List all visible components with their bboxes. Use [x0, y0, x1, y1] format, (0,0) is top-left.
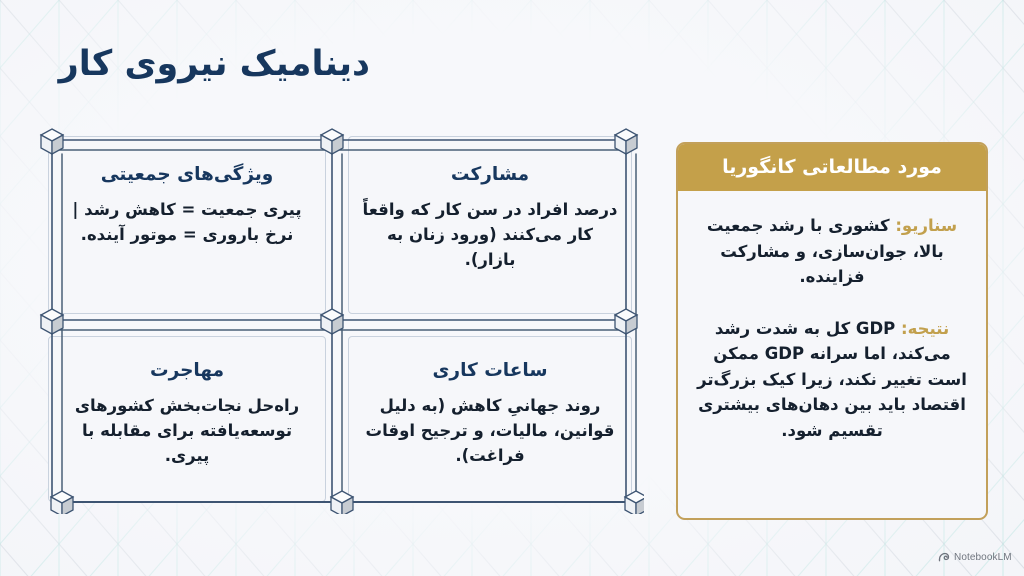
case-study-panel: مورد مطالعاتی کانگوریا سناریو: کشوری با …	[676, 142, 988, 520]
quadrant-body: راه‌حل نجات‌بخش کشورهای توسعه‌یافته برای…	[49, 393, 325, 468]
quadrant-body: روند جهانیِ کاهش (به دلیل قوانین، مالیات…	[349, 393, 631, 468]
quadrant-body: پیری جمعیت = کاهش رشد | نرخ باروری = موت…	[49, 197, 325, 247]
quadrant-working-hours: ساعات کاری روند جهانیِ کاهش (به دلیل قوا…	[348, 336, 632, 502]
quadrant-demographics: ویژگی‌های جمعیتی پیری جمعیت = کاهش رشد |…	[48, 136, 326, 314]
quadrant-body: درصد افراد در سن کار که واقعاً کار می‌کن…	[349, 197, 631, 272]
case-study-result-label: نتیجه:	[901, 319, 949, 338]
page-title: دینامیک نیروی کار	[59, 44, 370, 84]
case-study-scenario-label: سناریو:	[895, 216, 957, 235]
case-study-body: سناریو: کشوری با رشد جمعیت بالا، جوان‌سا…	[678, 191, 986, 458]
quadrant-heading: ویژگی‌های جمعیتی	[101, 163, 274, 186]
case-study-scenario: سناریو: کشوری با رشد جمعیت بالا، جوان‌سا…	[696, 213, 968, 290]
quadrant-heading: ساعات کاری	[432, 359, 547, 382]
case-study-header: مورد مطالعاتی کانگوریا	[678, 144, 986, 191]
case-study-result: نتیجه: GDP کل به شدت رشد می‌کند، اما سرا…	[696, 316, 968, 444]
watermark-label: NotebookLM	[954, 552, 1012, 563]
quadrant-participation: مشارکت درصد افراد در سن کار که واقعاً کا…	[348, 136, 632, 314]
notebooklm-watermark: NotebookLM	[938, 551, 1012, 563]
quadrant-frame: ویژگی‌های جمعیتی پیری جمعیت = کاهش رشد |…	[36, 124, 644, 514]
quadrant-heading: مشارکت	[451, 163, 529, 186]
quadrant-heading: مهاجرت	[150, 359, 224, 382]
notebooklm-icon	[938, 551, 950, 563]
quadrant-migration: مهاجرت راه‌حل نجات‌بخش کشورهای توسعه‌یاف…	[48, 336, 326, 502]
